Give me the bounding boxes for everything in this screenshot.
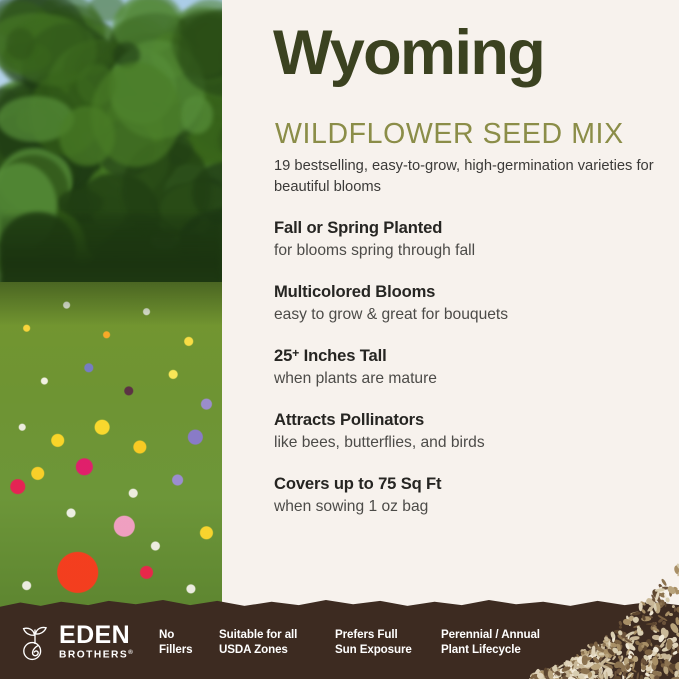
eden-brothers-logo: EDEN BROTHERS® [18, 620, 128, 664]
feature-title: Covers up to 75 Sq Ft [274, 474, 674, 495]
feature-title: Fall or Spring Planted [274, 218, 674, 239]
logo-secondary-text: BROTHERS® [59, 650, 134, 661]
feature-item: Covers up to 75 Sq Ft when sowing 1 oz b… [274, 474, 674, 517]
feature-title: 25+ Inches Tall [274, 346, 674, 367]
product-subtitle: WILDFLOWER SEED MIX [275, 120, 624, 149]
feature-subtitle: when plants are mature [274, 369, 674, 389]
footer-label-plant-lifecycle: Perennial / Annual Plant Lifecycle [441, 628, 540, 658]
feature-list: Fall or Spring Planted for blooms spring… [274, 218, 674, 517]
footer-label-usda-zones: Suitable for all USDA Zones [219, 628, 297, 658]
logo-secondary-word: BROTHERS [59, 650, 128, 661]
footer-label-no-fillers: No Fillers [159, 628, 192, 658]
meadow-shadow-band [0, 282, 222, 326]
feature-title: Attracts Pollinators [274, 410, 674, 431]
footer-label-sun-exposure: Prefers Full Sun Exposure [335, 628, 412, 658]
page-title: Wyoming [273, 22, 544, 85]
feature-subtitle: easy to grow & great for bouquets [274, 305, 674, 325]
feature-title-number: 25 [274, 346, 292, 365]
flower-meadow-region [0, 282, 222, 612]
feature-item: Multicolored Blooms easy to grow & great… [274, 282, 674, 325]
product-description: 19 bestselling, easy-to-grow, high-germi… [274, 156, 674, 198]
product-label-canvas: Wyoming WILDFLOWER SEED MIX 19 bestselli… [0, 0, 679, 679]
registered-mark: ® [128, 649, 134, 656]
logo-wordmark: EDEN BROTHERS® [59, 623, 134, 661]
feature-subtitle: like bees, butterflies, and birds [274, 433, 674, 453]
feature-subtitle: when sowing 1 oz bag [274, 497, 674, 517]
feature-title: Multicolored Blooms [274, 282, 674, 303]
feature-item: 25+ Inches Tall when plants are mature [274, 346, 674, 389]
feature-title-rest: Inches Tall [299, 346, 386, 365]
wildflower-meadow-photo [0, 0, 222, 612]
feature-subtitle: for blooms spring through fall [274, 241, 674, 261]
logo-primary-text: EDEN [59, 623, 134, 648]
sprout-icon [18, 623, 52, 661]
feature-item: Fall or Spring Planted for blooms spring… [274, 218, 674, 261]
info-panel: Wyoming WILDFLOWER SEED MIX 19 bestselli… [222, 0, 679, 612]
feature-item: Attracts Pollinators like bees, butterfl… [274, 410, 674, 453]
